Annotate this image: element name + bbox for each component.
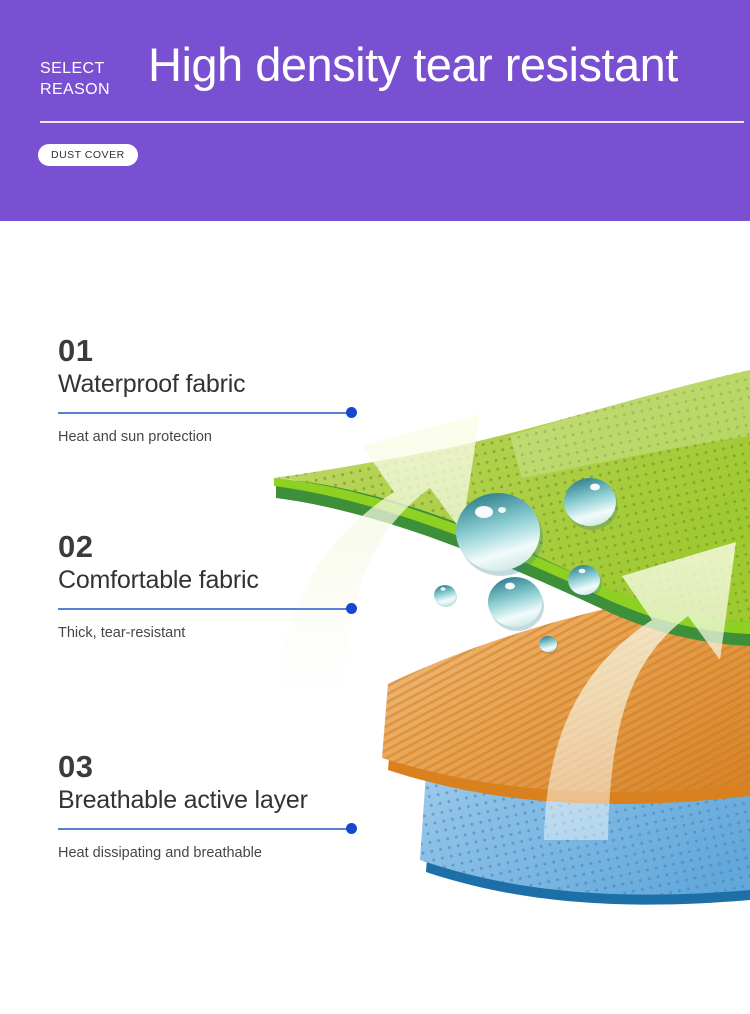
feature-item-03: 03 Breathable active layer Heat dissipat… (58, 750, 388, 863)
infographic-page: SELECT REASON High density tear resistan… (0, 0, 750, 1014)
feature-subtitle: Thick, tear-resistant (58, 624, 388, 643)
feature-connector (58, 603, 388, 615)
status-badge: DUST COVER (38, 144, 138, 166)
header-eyebrow-line2: REASON (40, 79, 150, 100)
feature-number: 03 (58, 750, 388, 784)
feature-connector (58, 407, 388, 419)
feature-item-01: 01 Waterproof fabric Heat and sun protec… (58, 334, 388, 447)
feature-title: Comfortable fabric (58, 564, 388, 596)
connector-line (58, 608, 349, 610)
connector-dot-icon (346, 823, 357, 834)
connector-dot-icon (346, 407, 357, 418)
feature-item-02: 02 Comfortable fabric Thick, tear-resist… (58, 530, 388, 643)
page-title: High density tear resistant (148, 34, 748, 96)
header-divider (40, 121, 744, 123)
connector-dot-icon (346, 603, 357, 614)
header-eyebrow: SELECT REASON (40, 58, 150, 100)
feature-list: 01 Waterproof fabric Heat and sun protec… (0, 221, 750, 1014)
feature-number: 01 (58, 334, 388, 368)
feature-subtitle: Heat dissipating and breathable (58, 844, 388, 863)
feature-connector (58, 823, 388, 835)
feature-subtitle: Heat and sun protection (58, 428, 388, 447)
header-eyebrow-line1: SELECT (40, 60, 105, 77)
connector-line (58, 412, 349, 414)
connector-line (58, 828, 349, 830)
feature-title: Breathable active layer (58, 784, 388, 816)
feature-title: Waterproof fabric (58, 368, 388, 400)
page-header: SELECT REASON High density tear resistan… (0, 0, 750, 221)
feature-number: 02 (58, 530, 388, 564)
